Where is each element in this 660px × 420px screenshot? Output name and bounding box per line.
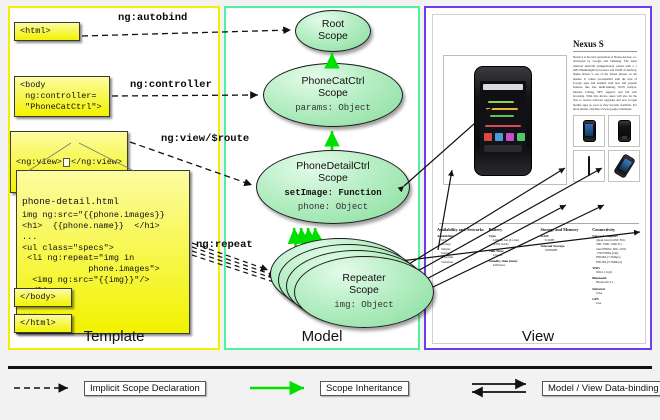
legend: Implicit Scope Declaration Scope Inherit… <box>8 378 652 404</box>
hero-image-frame <box>443 55 567 185</box>
legend-label-1: Scope Inheritance <box>320 381 409 396</box>
spec-header-2: Storage and Memory <box>541 227 590 232</box>
rendered-view-page: Nexus S Nexus S is the next generation o… <box>432 14 646 344</box>
scope-repeater-label: RepeaterScope <box>342 273 385 297</box>
phone-screen <box>480 81 526 155</box>
legend-label-0: Implicit Scope Declaration <box>84 381 206 396</box>
scope-phonecatctrl: PhoneCatCtrlScope params: Object <box>263 63 403 127</box>
spec-header-3: Connectivity <box>592 227 641 232</box>
scope-root: RootScope <box>295 10 371 52</box>
legend-item-0: Implicit Scope Declaration <box>12 378 206 398</box>
scope-phonedetailctrl-member-1: phone: Object <box>298 202 368 213</box>
screen-line-3 <box>490 115 514 117</box>
panel-title-view: View <box>424 328 652 345</box>
legend-item-1: Scope Inheritance <box>248 378 409 398</box>
spec-value-2-0: 512MB <box>541 238 590 242</box>
title-divider <box>573 51 637 52</box>
specs-table: Availability and Networks Availability M… <box>437 227 641 305</box>
panel-title-template: Template <box>8 328 220 345</box>
screen-line-1 <box>488 101 514 103</box>
spec-value-1-2: 428 hours <box>489 263 538 267</box>
screen-line-4 <box>485 125 521 127</box>
phone-side-thumb-icon <box>588 156 591 176</box>
code-block-html-open: <html> <box>14 22 80 41</box>
label-ng-view-route: ng:view/$route <box>161 133 249 145</box>
spec-value-1-0: Lithium Ion (Li-Ion) (1500 mAh) <box>489 238 538 247</box>
spec-value-3-2: Bluetooth 2.1 <box>592 280 641 284</box>
app-icon-2 <box>495 133 503 141</box>
app-icon-1 <box>484 133 492 141</box>
ngview-open-tag: <ng:view> <box>16 157 62 168</box>
app-icon-3 <box>506 133 514 141</box>
legend-item-2: Model / View Data-binding <box>470 378 660 398</box>
code-block-body-open: <body ng:controller= "PhoneCatCtrl"> <box>14 76 110 117</box>
label-ng-autobind: ng:autobind <box>118 12 187 24</box>
scope-phonecatctrl-member-0: params: Object <box>295 103 371 114</box>
scope-phonecatctrl-label: PhoneCatCtrlScope <box>301 76 364 100</box>
view-title-area: Nexus S Nexus S is the next generation o… <box>573 39 637 111</box>
phone-description: Nexus S is the next generation of Nexus … <box>573 55 637 111</box>
spec-value-3-1: 802.11 b/g/n <box>592 270 641 274</box>
scope-root-label: RootScope <box>318 19 348 43</box>
app-icon-row <box>484 133 525 141</box>
spec-value-3-3: false <box>592 291 641 295</box>
thumbnail-2[interactable] <box>573 150 605 182</box>
spec-value-0-1: Orange, Singtel, Sprint, T-Mobile, Vodaf… <box>437 242 486 264</box>
ngview-close-tag: </ng:view> <box>71 157 122 168</box>
spec-column-1: Battery Type Lithium Ion (Li-Ion) (1500 … <box>489 227 538 305</box>
scope-repeater-member-0: img: Object <box>334 300 393 311</box>
thumbnail-3[interactable] <box>608 150 640 182</box>
dashed-arrow-icon <box>12 378 78 398</box>
phone-front-thumb-icon <box>583 120 596 142</box>
thumbnail-1[interactable] <box>608 115 640 147</box>
spec-column-3: Connectivity Network Support Quad-band G… <box>592 227 641 305</box>
scope-phonedetailctrl-member-0: setImage: Function <box>284 188 381 199</box>
thumbnail-0[interactable] <box>573 115 605 147</box>
app-icon-4 <box>517 133 525 141</box>
spec-column-2: Storage and Memory RAM 512MB Internal St… <box>541 227 590 305</box>
legend-divider <box>8 366 652 369</box>
dock-bar <box>484 145 522 152</box>
scope-phonedetailctrl-label: PhoneDetailCtrlScope <box>296 161 370 185</box>
phone-hero-image <box>474 66 532 176</box>
spec-header-1: Battery <box>489 227 538 232</box>
spec-header-0: Availability and Networks <box>437 227 486 232</box>
panel-title-model: Model <box>224 328 420 345</box>
spec-value-1-1: 6 hours <box>489 253 538 257</box>
code-block-phone-detail: phone-detail.htmlimg ng:src="{{phone.ima… <box>16 170 190 334</box>
label-ng-repeat: ng:repeat <box>196 239 253 251</box>
diagram-canvas: <html> <body ng:controller= "PhoneCatCtr… <box>0 0 660 420</box>
label-ng-controller: ng:controller <box>130 79 212 91</box>
ngview-placeholder-icon <box>63 158 70 167</box>
phone-back-thumb-icon <box>618 120 631 142</box>
phone-angled-thumb-icon <box>613 153 636 179</box>
spec-value-3-4: true <box>592 301 641 305</box>
green-arrow-icon <box>248 378 314 398</box>
scope-phonedetailctrl: PhoneDetailCtrlScope setImage: Function … <box>256 150 410 224</box>
spec-value-3-0: Quad-band GSM: 850, 900, 1800, 1900 Tri-… <box>592 238 641 264</box>
legend-label-2: Model / View Data-binding <box>542 381 660 396</box>
double-arrow-icon <box>470 378 536 398</box>
screen-line-2 <box>486 108 518 110</box>
spec-column-0: Availability and Networks Availability M… <box>437 227 486 305</box>
code-block-body-close: </body> <box>14 288 72 307</box>
spec-value-2-1: 16384MB <box>541 248 590 252</box>
phone-title: Nexus S <box>573 39 637 49</box>
search-bar-icon <box>483 84 523 90</box>
scope-repeater: RepeaterScope img: Object <box>294 256 434 328</box>
specs-divider <box>439 223 639 224</box>
phone-detail-filename: phone-detail.html <box>22 196 184 208</box>
